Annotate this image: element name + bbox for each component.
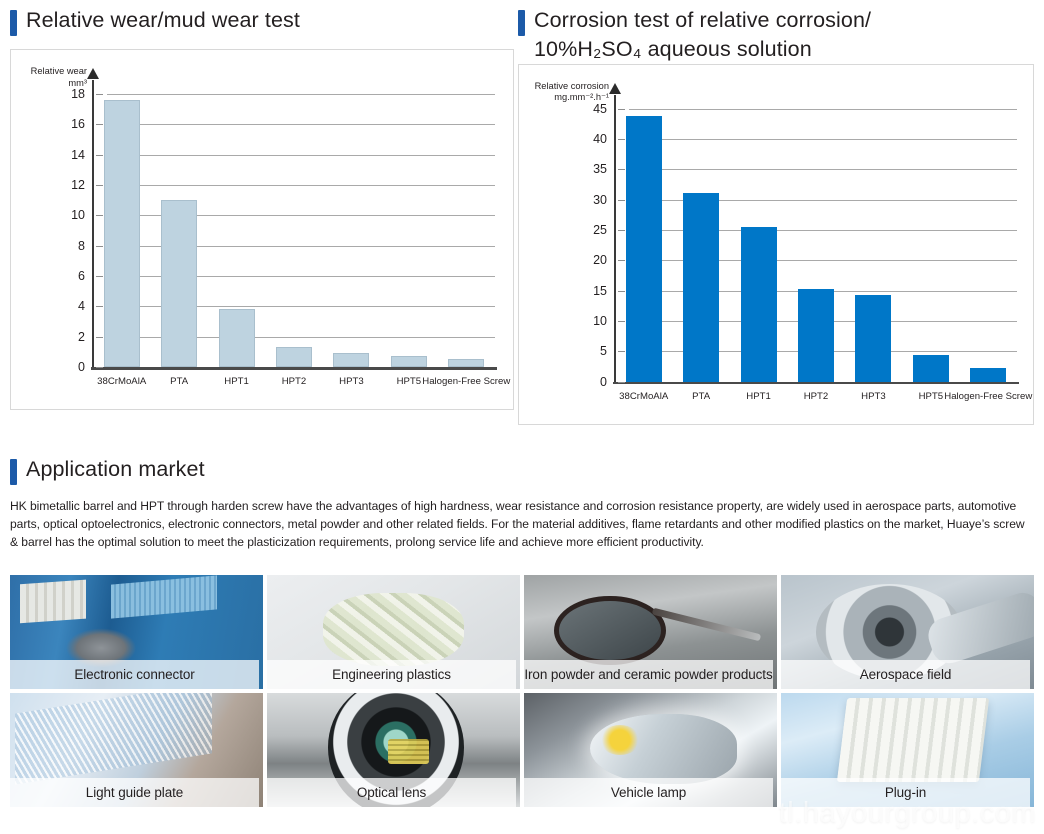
wear-chart-section: Relative wear/mud wear test Relative wea… bbox=[10, 6, 514, 410]
gallery-caption-band: Electronic connector bbox=[10, 660, 259, 689]
bar bbox=[741, 227, 777, 382]
gallery-caption: Electronic connector bbox=[74, 667, 194, 682]
x-axis bbox=[613, 382, 1019, 385]
corrosion-section-title: Corrosion test of relative corrosion/ 10… bbox=[534, 6, 871, 64]
corrosion-section-heading: Corrosion test of relative corrosion/ 10… bbox=[518, 6, 1034, 64]
x-tick-label: HPT1 bbox=[224, 376, 249, 387]
wear-section-title: Relative wear/mud wear test bbox=[26, 6, 300, 35]
gridline bbox=[107, 155, 495, 156]
gridline bbox=[107, 185, 495, 186]
gallery-tile[interactable]: Optical lens bbox=[267, 693, 524, 807]
y-axis-label-line1: Relative wear bbox=[31, 66, 87, 76]
application-gallery: Electronic connectorEngineering plastics… bbox=[10, 575, 1034, 807]
y-tick-mark bbox=[96, 306, 103, 307]
y-tick-mark bbox=[618, 382, 625, 383]
y-tick-label: 0 bbox=[78, 360, 85, 374]
y-tick-mark bbox=[96, 276, 103, 277]
y-tick-mark bbox=[96, 155, 103, 156]
gallery-caption: Engineering plastics bbox=[332, 667, 451, 682]
corrosion-chart-plot: Relative corrosionmg.mm⁻².h⁻¹05101520253… bbox=[518, 64, 1034, 425]
gallery-tile[interactable]: Light guide plate bbox=[10, 693, 267, 807]
y-tick-label: 14 bbox=[71, 148, 85, 162]
x-tick-label: Halogen-Free Screw bbox=[944, 391, 1032, 402]
y-tick-label: 10 bbox=[71, 208, 85, 222]
x-tick-label: Halogen-Free Screw bbox=[422, 376, 510, 387]
y-tick-label: 2 bbox=[78, 330, 85, 344]
y-tick-mark bbox=[96, 94, 103, 95]
gallery-tile[interactable]: Aerospace field bbox=[781, 575, 1038, 689]
accent-bar bbox=[10, 459, 17, 485]
gallery-tile[interactable]: Iron powder and ceramic powder products bbox=[524, 575, 781, 689]
y-tick-mark bbox=[96, 246, 103, 247]
y-tick-label: 5 bbox=[600, 344, 607, 358]
gallery-tile[interactable]: Vehicle lamp bbox=[524, 693, 781, 807]
bar bbox=[683, 193, 719, 382]
y-tick-label: 45 bbox=[593, 102, 607, 116]
y-tick-mark bbox=[96, 337, 103, 338]
y-tick-mark bbox=[618, 351, 625, 352]
y-axis-label-line1: Relative corrosion bbox=[535, 81, 609, 91]
y-tick-mark bbox=[618, 169, 625, 170]
y-tick-mark bbox=[618, 321, 625, 322]
x-tick-label: 38CrMoAlA bbox=[619, 391, 668, 402]
application-market-section: Application market HK bimetallic barrel … bbox=[10, 455, 1034, 552]
gallery-caption: Aerospace field bbox=[860, 667, 952, 682]
y-tick-label: 18 bbox=[71, 87, 85, 101]
y-tick-label: 8 bbox=[78, 239, 85, 253]
bar bbox=[391, 356, 427, 367]
x-tick-label: HPT2 bbox=[804, 391, 829, 402]
bar bbox=[219, 309, 255, 367]
gallery-caption: Optical lens bbox=[357, 785, 426, 800]
x-tick-label: HPT3 bbox=[861, 391, 886, 402]
y-tick-mark bbox=[618, 200, 625, 201]
corrosion-chart-section: Corrosion test of relative corrosion/ 10… bbox=[518, 6, 1034, 425]
y-tick-label: 10 bbox=[593, 314, 607, 328]
bar bbox=[855, 295, 891, 382]
bar bbox=[798, 289, 834, 382]
y-tick-mark bbox=[96, 367, 103, 368]
y-axis bbox=[614, 95, 616, 382]
x-tick-label: HPT5 bbox=[919, 391, 944, 402]
gallery-caption: Light guide plate bbox=[86, 785, 183, 800]
x-tick-label: 38CrMoAlA bbox=[97, 376, 146, 387]
gallery-tile[interactable]: Engineering plastics bbox=[267, 575, 524, 689]
bar bbox=[448, 359, 484, 367]
y-tick-label: 40 bbox=[593, 132, 607, 146]
y-tick-label: 25 bbox=[593, 223, 607, 237]
x-tick-label: HPT5 bbox=[397, 376, 422, 387]
gallery-caption-band: Vehicle lamp bbox=[524, 778, 773, 807]
wear-section-heading: Relative wear/mud wear test bbox=[10, 6, 514, 36]
gallery-caption: Plug-in bbox=[885, 785, 926, 800]
gallery-tile[interactable]: Electronic connector bbox=[10, 575, 267, 689]
gallery-caption: Vehicle lamp bbox=[611, 785, 686, 800]
gridline bbox=[107, 94, 495, 95]
y-tick-label: 30 bbox=[593, 193, 607, 207]
gallery-tile[interactable]: Plug-in bbox=[781, 693, 1038, 807]
y-tick-mark bbox=[618, 230, 625, 231]
y-tick-mark bbox=[96, 124, 103, 125]
y-tick-label: 16 bbox=[71, 117, 85, 131]
application-paragraph: HK bimetallic barrel and HPT through har… bbox=[10, 498, 1032, 552]
application-section-title: Application market bbox=[26, 455, 205, 484]
gallery-caption-band: Light guide plate bbox=[10, 778, 259, 807]
y-tick-label: 20 bbox=[593, 253, 607, 267]
wear-chart-plot: Relative wearmm³02468101214161838CrMoAlA… bbox=[10, 49, 514, 410]
gridline bbox=[629, 139, 1017, 140]
y-tick-mark bbox=[96, 215, 103, 216]
gridline bbox=[629, 169, 1017, 170]
gridline bbox=[107, 124, 495, 125]
x-axis bbox=[91, 367, 497, 370]
y-tick-label: 6 bbox=[78, 269, 85, 283]
gallery-caption-band: Plug-in bbox=[781, 778, 1030, 807]
accent-bar bbox=[10, 10, 17, 36]
accent-bar bbox=[518, 10, 525, 36]
y-axis bbox=[92, 80, 94, 367]
x-tick-label: HPT1 bbox=[746, 391, 771, 402]
gallery-caption-band: Iron powder and ceramic powder products bbox=[524, 660, 773, 689]
y-tick-mark bbox=[618, 139, 625, 140]
x-tick-label: HPT3 bbox=[339, 376, 364, 387]
bar bbox=[913, 355, 949, 382]
corrosion-title-line-1: Corrosion test of relative corrosion/ bbox=[534, 6, 871, 35]
gallery-caption-band: Engineering plastics bbox=[267, 660, 516, 689]
y-tick-label: 0 bbox=[600, 375, 607, 389]
y-axis-arrow bbox=[609, 83, 621, 94]
x-tick-label: HPT2 bbox=[282, 376, 307, 387]
application-section-heading: Application market bbox=[10, 455, 1034, 485]
y-tick-label: 12 bbox=[71, 178, 85, 192]
gallery-caption-band: Aerospace field bbox=[781, 660, 1030, 689]
bar bbox=[276, 347, 312, 367]
y-tick-mark bbox=[618, 291, 625, 292]
gridline bbox=[629, 109, 1017, 110]
y-axis-arrow bbox=[87, 68, 99, 79]
gallery-caption-band: Optical lens bbox=[267, 778, 516, 807]
corrosion-title-line-2: 10%H₂SO₄ aqueous solution bbox=[534, 35, 871, 64]
gallery-caption: Iron powder and ceramic powder products bbox=[524, 667, 772, 682]
y-tick-mark bbox=[96, 185, 103, 186]
bar bbox=[104, 100, 140, 367]
bar bbox=[626, 116, 662, 382]
y-tick-label: 35 bbox=[593, 162, 607, 176]
bar bbox=[161, 200, 197, 367]
y-tick-label: 15 bbox=[593, 284, 607, 298]
x-tick-label: PTA bbox=[170, 376, 188, 387]
y-tick-mark bbox=[618, 109, 625, 110]
x-tick-label: PTA bbox=[692, 391, 710, 402]
y-tick-label: 4 bbox=[78, 299, 85, 313]
bar bbox=[970, 368, 1006, 381]
bar bbox=[333, 353, 369, 367]
y-tick-mark bbox=[618, 260, 625, 261]
